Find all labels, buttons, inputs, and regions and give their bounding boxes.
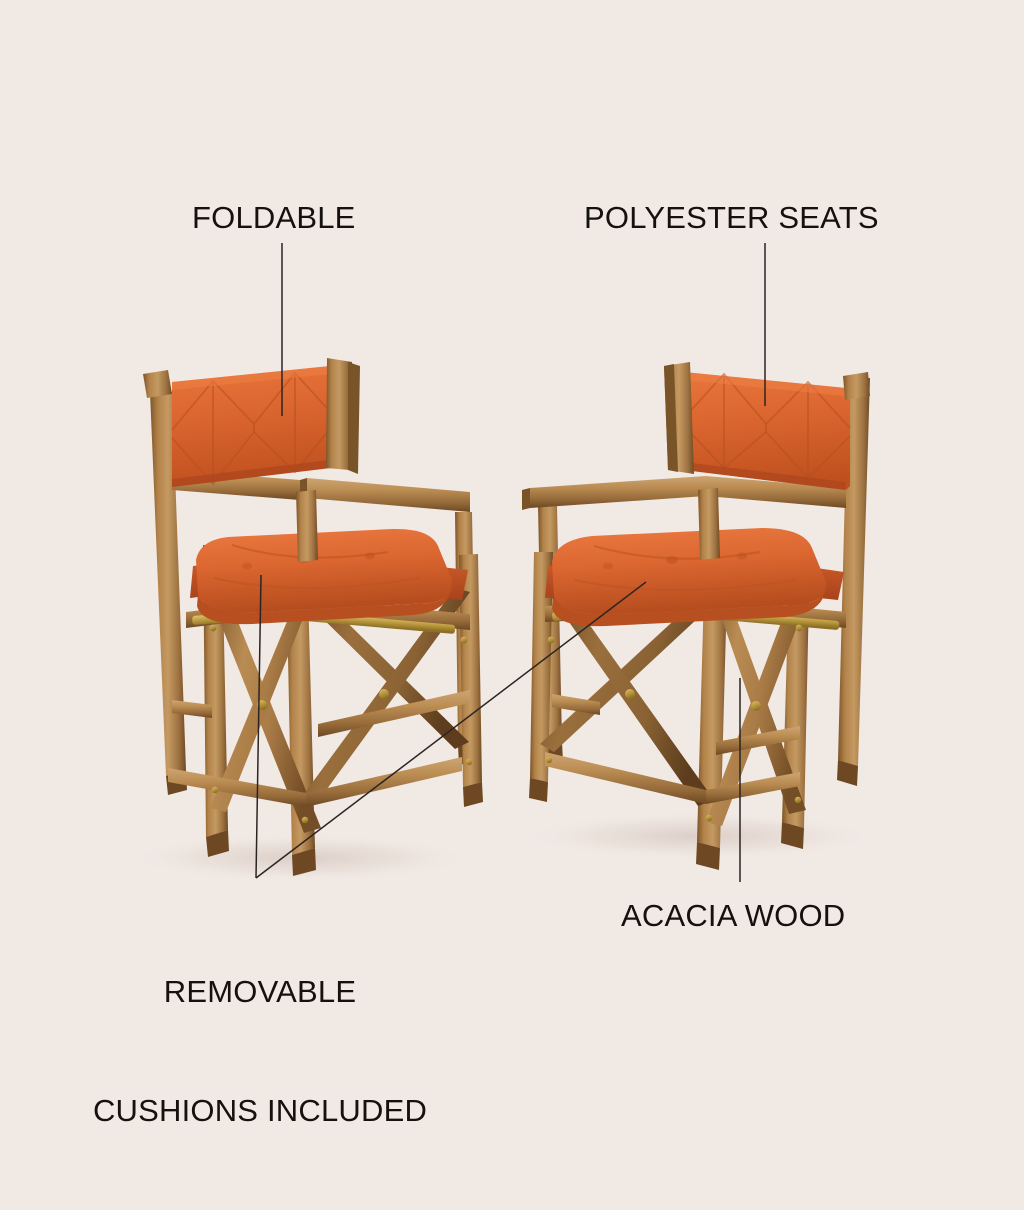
- callout-label-removable-line1: REMOVABLE: [92, 972, 428, 1012]
- brace-pivot-rivet: [751, 701, 761, 711]
- backpost-right-shade: [348, 362, 360, 474]
- backpost-left-top: [143, 370, 172, 398]
- callout-label-removable: REMOVABLE CUSHIONS INCLUDED: [92, 893, 428, 1210]
- cushion-tuft: [242, 563, 252, 570]
- arm-support-post: [296, 490, 318, 562]
- chair-right-backrest: [684, 372, 850, 490]
- front-left-foot: [529, 778, 548, 802]
- cushion-body: [552, 528, 826, 614]
- armrest-left-end: [522, 488, 530, 510]
- cushion-body: [196, 529, 453, 612]
- callout-label-acacia: ACACIA WOOD: [621, 896, 845, 936]
- cushion-tuft: [365, 553, 375, 560]
- infographic-canvas: FOLDABLE POLYESTER SEATS REMOVABLE CUSHI…: [0, 0, 1024, 1024]
- cushion-tuft: [737, 553, 747, 560]
- arm-support-post: [698, 488, 720, 560]
- product-illustration: [0, 0, 1024, 1024]
- cushion-tuft: [666, 556, 678, 564]
- cushion-tuft: [603, 563, 613, 570]
- callout-label-removable-line2: CUSHIONS INCLUDED: [92, 1091, 428, 1131]
- chair-left-seat-cushion: [196, 529, 453, 624]
- brace-pivot-rivet: [625, 689, 635, 699]
- callout-label-foldable: FOLDABLE: [192, 198, 356, 238]
- chair-right-seat-cushion: [552, 528, 826, 626]
- backpost-right-top: [843, 372, 870, 400]
- brace-pivot-rivet: [379, 689, 389, 699]
- chair-left-backrest: [172, 366, 334, 487]
- callout-label-polyester: POLYESTER SEATS: [584, 198, 879, 238]
